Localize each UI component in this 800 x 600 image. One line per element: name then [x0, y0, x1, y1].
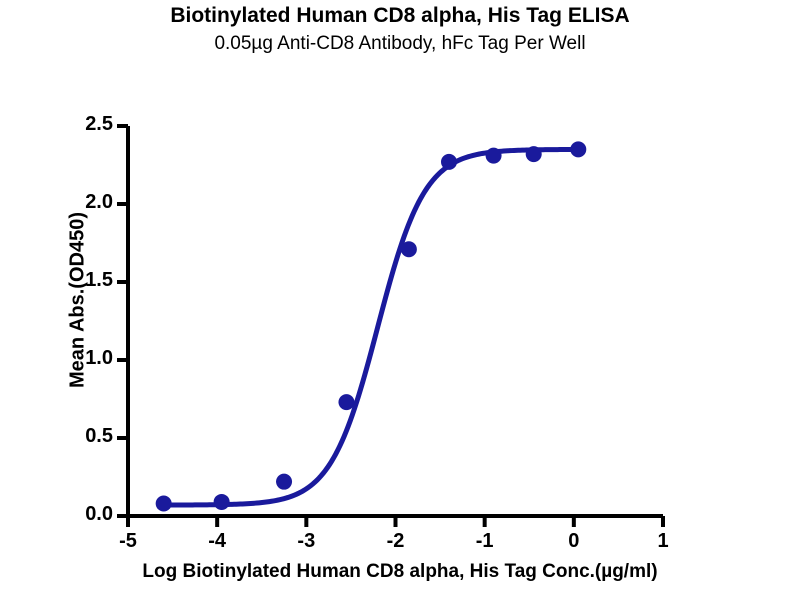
- data-point: [526, 146, 542, 162]
- data-point: [156, 496, 172, 512]
- y-tick-label: 2.5: [53, 113, 113, 136]
- x-tick-label: -2: [376, 530, 416, 553]
- y-tick-label: 2.0: [53, 191, 113, 214]
- chart-figure: Biotinylated Human CD8 alpha, His Tag EL…: [0, 0, 800, 600]
- axes: [117, 126, 663, 527]
- data-point: [214, 494, 230, 510]
- data-point: [486, 148, 502, 164]
- fit-curve: [164, 149, 579, 505]
- data-point: [570, 141, 586, 157]
- y-tick-label: 0.5: [53, 425, 113, 448]
- data-points: [156, 141, 587, 511]
- x-tick-label: -3: [286, 530, 326, 553]
- data-point: [338, 394, 354, 410]
- x-tick-label: 0: [554, 530, 594, 553]
- x-tick-label: -1: [465, 530, 505, 553]
- x-tick-label: 1: [643, 530, 683, 553]
- x-tick-label: -5: [108, 530, 148, 553]
- data-point: [401, 241, 417, 257]
- x-tick-label: -4: [197, 530, 237, 553]
- y-tick-label: 0.0: [53, 503, 113, 526]
- data-point: [276, 474, 292, 490]
- y-tick-label: 1.5: [53, 269, 113, 292]
- y-tick-label: 1.0: [53, 347, 113, 370]
- data-point: [441, 154, 457, 170]
- plot-area: [0, 0, 800, 600]
